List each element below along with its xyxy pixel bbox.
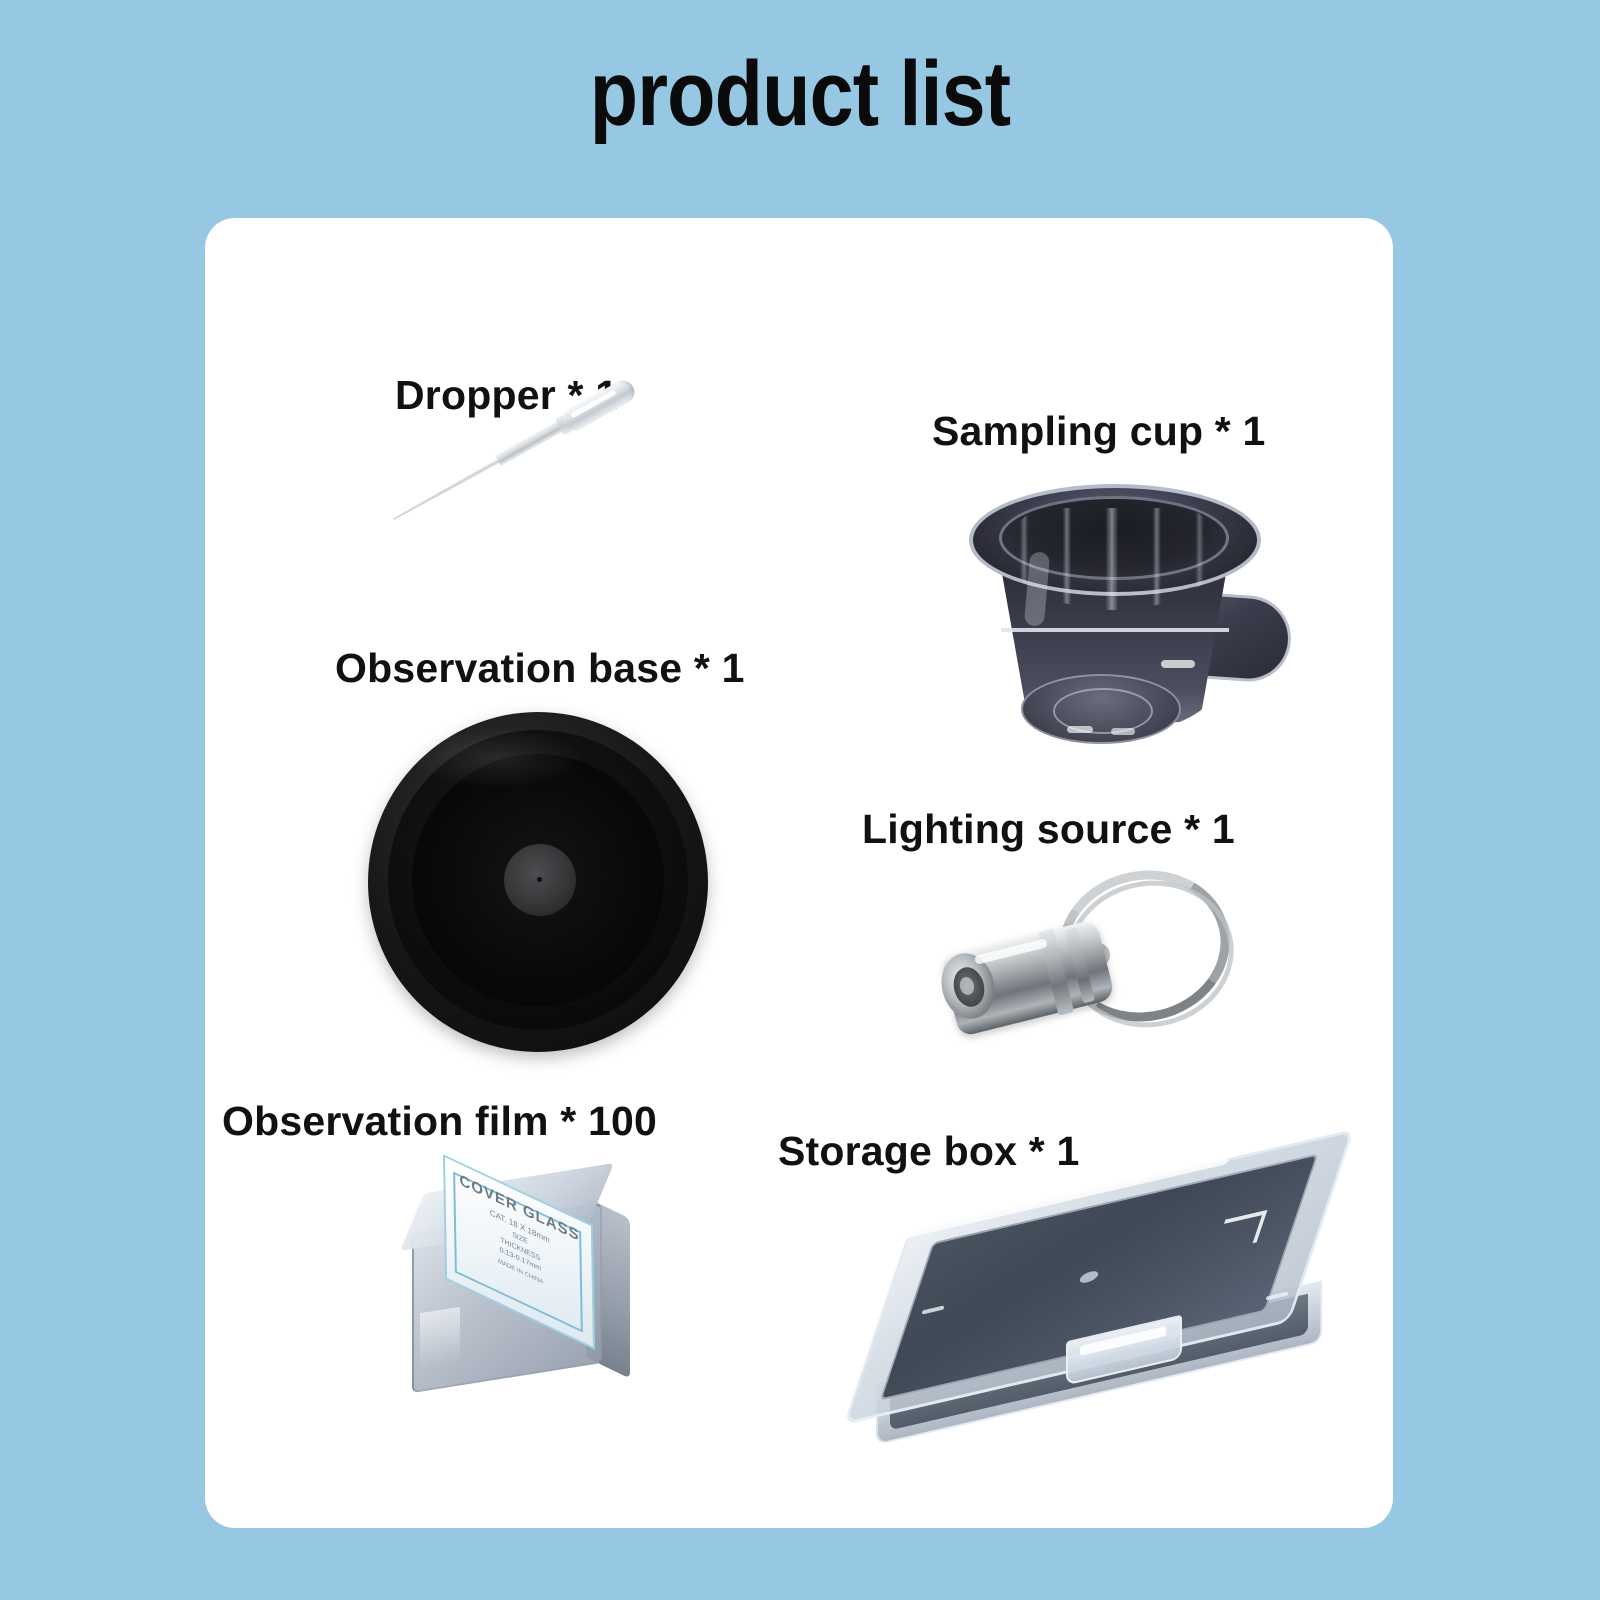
- observation-base-label: Observation base * 1: [335, 645, 745, 692]
- storage-box-icon: [868, 1160, 1348, 1455]
- lighting-source-label: Lighting source * 1: [862, 806, 1235, 853]
- cup-highlight-bottom-right: [1111, 728, 1135, 735]
- base-sheen: [412, 728, 582, 788]
- film-box-highlight: [420, 1307, 460, 1369]
- base-center-dot: [537, 877, 542, 882]
- cup-waist-line: [1001, 628, 1229, 662]
- cover-glass-box-icon: COVER GLASS CAT. 18 X 18mm SIZE THICKNES…: [398, 1160, 643, 1425]
- sampling-cup-label: Sampling cup * 1: [932, 408, 1266, 455]
- keychain-flashlight-icon: [930, 865, 1260, 1060]
- sampling-cup-icon: [955, 478, 1285, 778]
- observation-film-label: Observation film * 100: [222, 1098, 657, 1145]
- cup-highlight-right: [1161, 660, 1195, 668]
- page-title: product list: [112, 48, 1488, 140]
- pipette-icon: [385, 445, 675, 600]
- cup-highlight-bottom-left: [1067, 726, 1093, 733]
- observation-base-icon: [368, 712, 708, 1052]
